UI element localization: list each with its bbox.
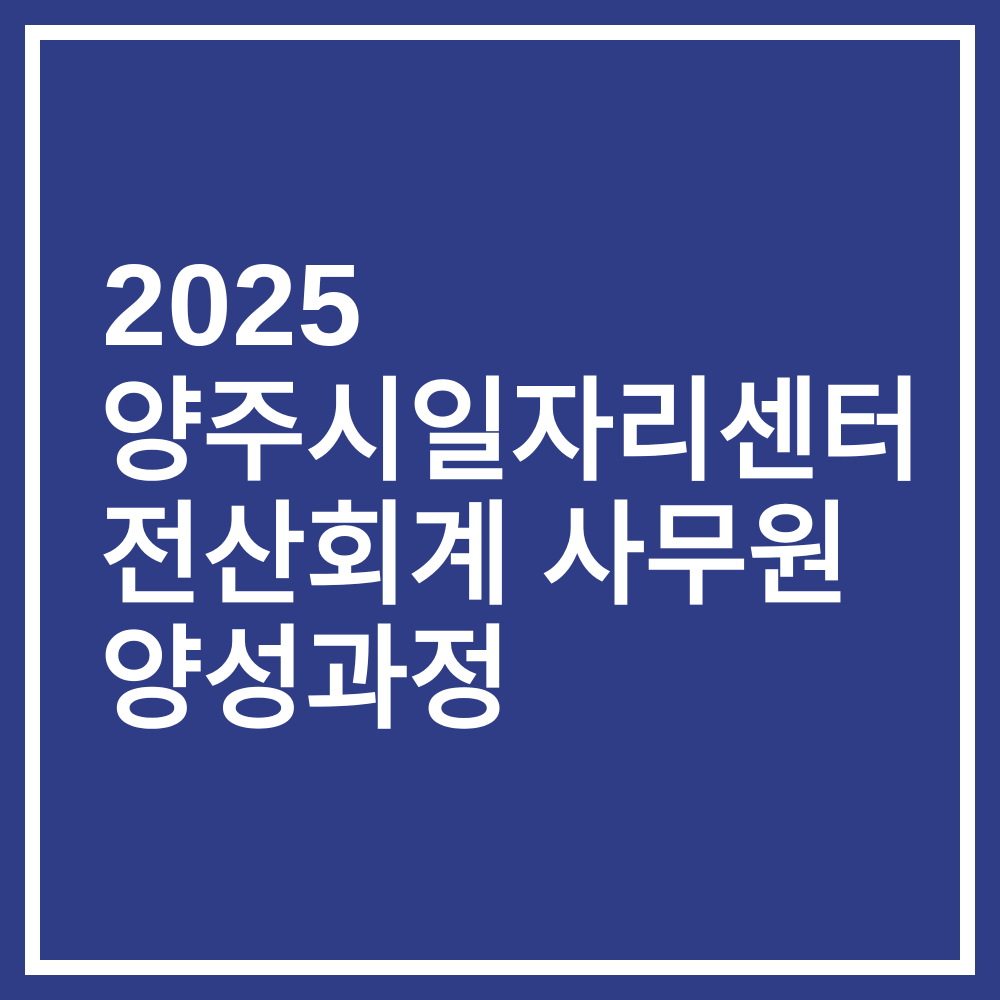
title-line-year: 2025: [102, 246, 960, 364]
poster-title-block: 2025 양주시일자리센터 전산회계 사무원 양성과정: [100, 246, 960, 742]
title-line-program: 양성과정: [100, 618, 960, 742]
title-line-occupation: 전산회계 사무원: [100, 494, 960, 618]
poster-canvas: 2025 양주시일자리센터 전산회계 사무원 양성과정: [0, 0, 1000, 1000]
title-line-organization: 양주시일자리센터: [100, 370, 960, 494]
